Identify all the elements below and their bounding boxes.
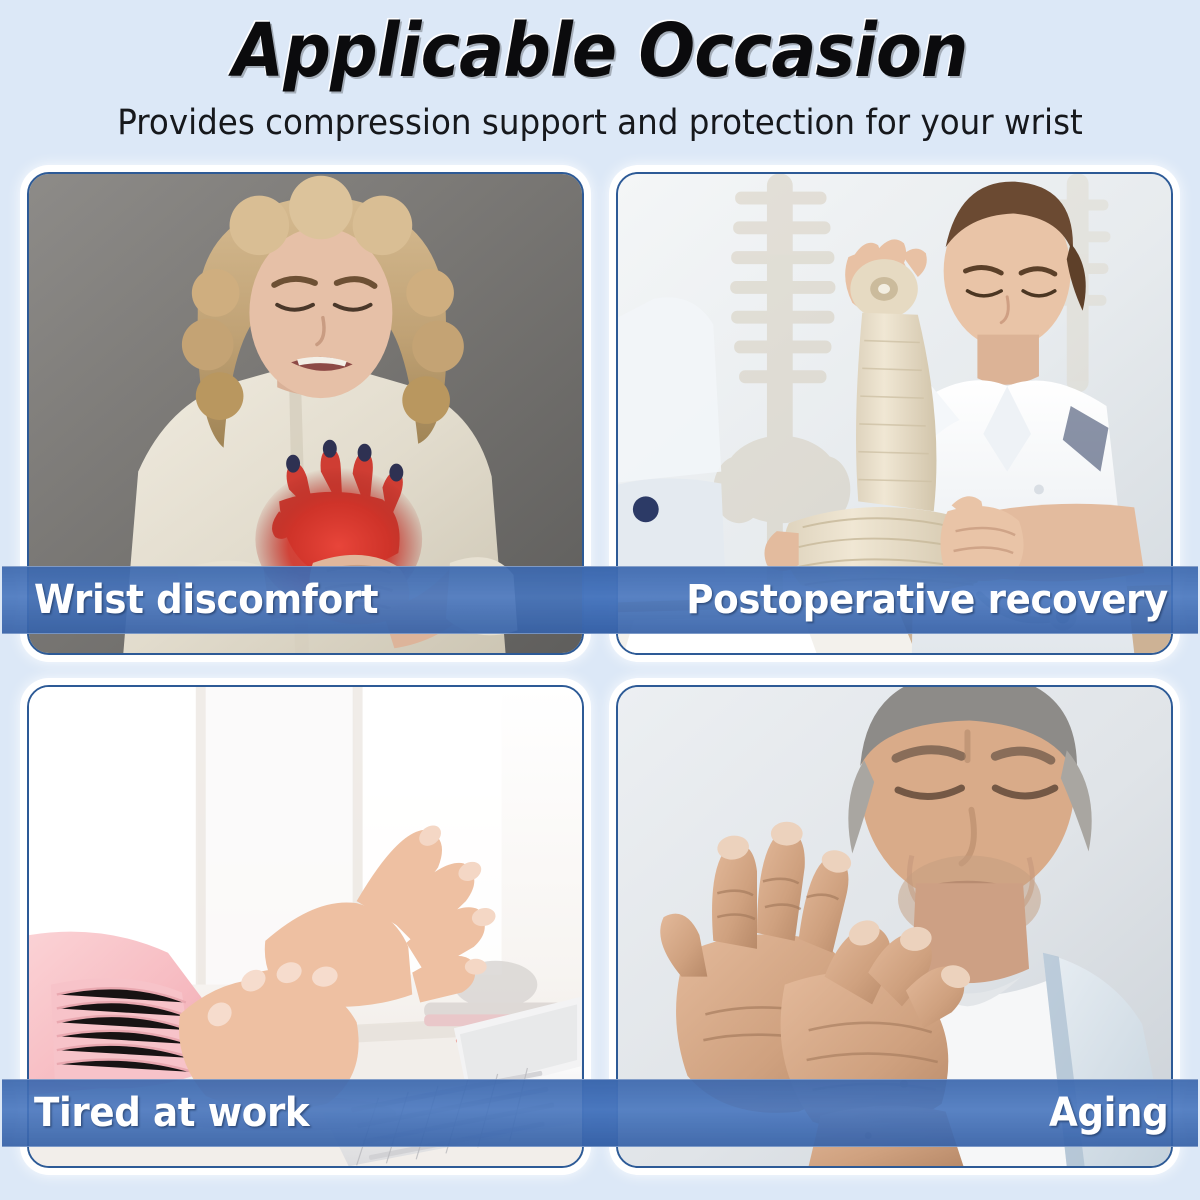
photo-elderly-man-rubbing-hands (618, 687, 1171, 1166)
header: Applicable Occasion Provides compression… (0, 0, 1200, 143)
photo-office-worker-rubbing-wrist (29, 687, 582, 1166)
occasion-card-grid: Wrist discomfort (0, 172, 1200, 1168)
occasion-card-wrist-discomfort[interactable]: Wrist discomfort (27, 172, 584, 655)
photo-woman-holding-painful-wrist (29, 174, 582, 653)
occasion-card-aging[interactable]: Aging (616, 685, 1173, 1168)
occasion-card-postoperative-recovery[interactable]: Postoperative recovery (616, 172, 1173, 655)
photo-doctor-wrapping-bandage (618, 174, 1171, 653)
occasion-card-tired-at-work[interactable]: Tired at work (27, 685, 584, 1168)
page-subtitle: Provides compression support and protect… (42, 103, 1158, 143)
page-title: Applicable Occasion (60, 14, 1140, 89)
